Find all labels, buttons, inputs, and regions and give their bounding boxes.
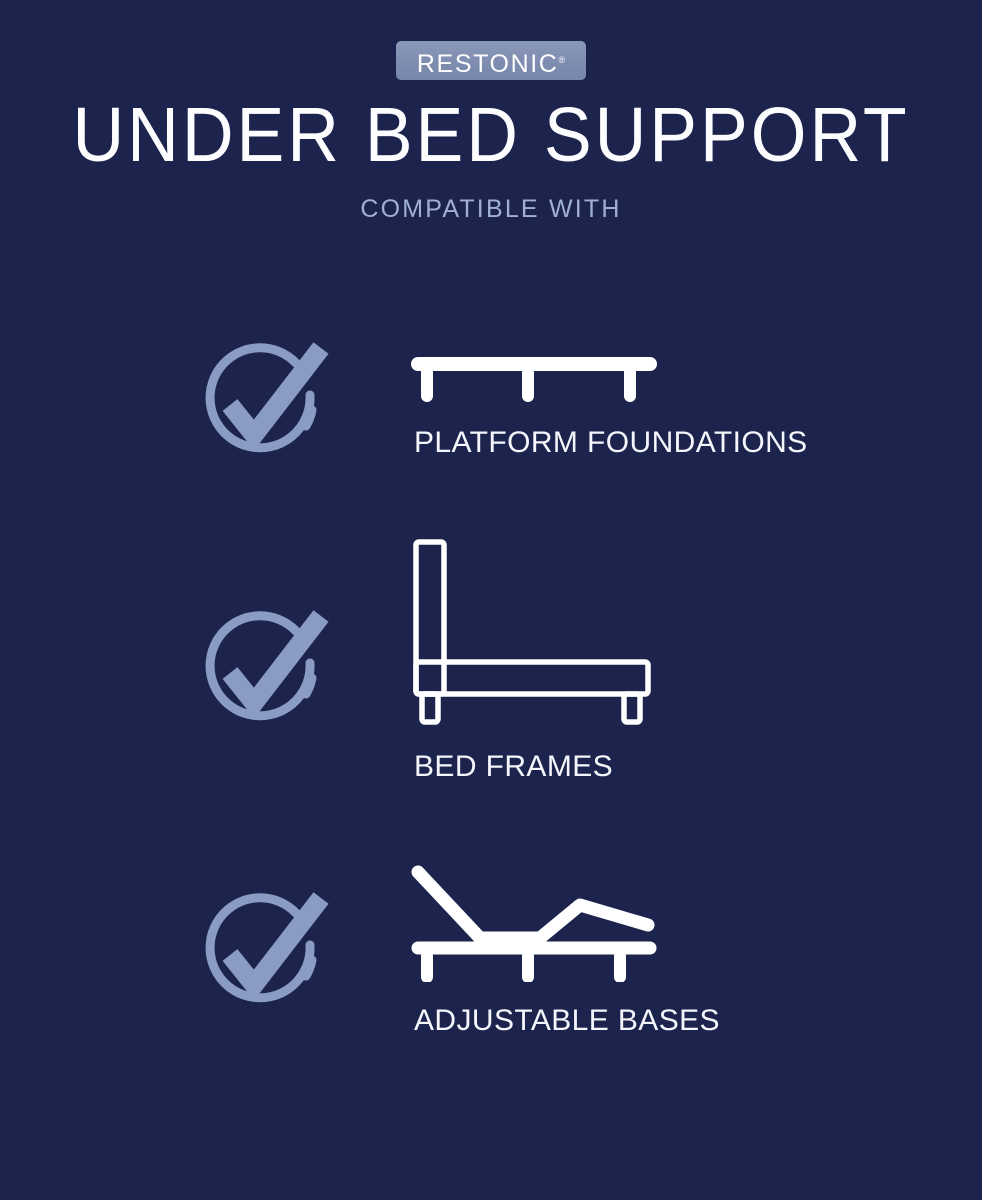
feature-row-platform-foundations: PLATFORM FOUNDATIONS: [0, 332, 982, 512]
check-circle-icon: [188, 332, 334, 478]
feature-label-adjustable-bases: ADJUSTABLE BASES: [414, 1004, 720, 1038]
brand-logo: RESTONIC®: [0, 41, 982, 85]
under-bed-support-infographic: RESTONIC® UNDER BED SUPPORT COMPATIBLE W…: [0, 0, 982, 1200]
page-subtitle: COMPATIBLE WITH: [0, 194, 982, 224]
check-circle-icon: [188, 600, 334, 746]
brand-logo-label: RESTONIC®: [396, 41, 586, 80]
feature-label-platform-foundations: PLATFORM FOUNDATIONS: [414, 426, 808, 460]
feature-row-adjustable-bases: ADJUSTABLE BASES: [0, 862, 982, 1042]
check-circle-icon: [188, 882, 334, 1028]
platform-foundation-icon: [410, 356, 660, 406]
feature-row-bed-frames: BED FRAMES: [0, 532, 982, 712]
adjustable-base-icon: [410, 862, 660, 982]
registered-trademark-icon: ®: [558, 55, 565, 65]
brand-logo-badge: RESTONIC®: [396, 41, 586, 80]
bed-frame-icon: [410, 532, 660, 732]
page-title: UNDER BED SUPPORT: [34, 96, 947, 174]
brand-name-text: RESTONIC: [417, 50, 559, 78]
feature-label-bed-frames: BED FRAMES: [414, 750, 613, 784]
